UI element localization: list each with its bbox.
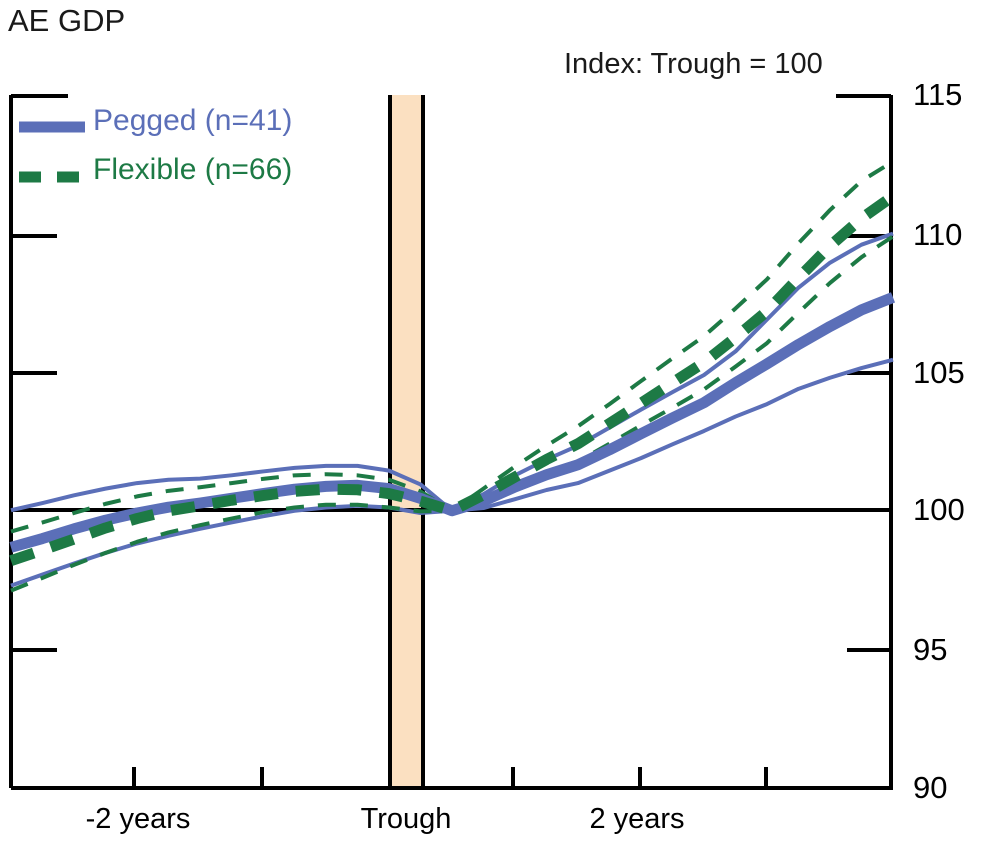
y-axis-label-110: 110	[913, 217, 962, 253]
y-axis-label-95: 95	[913, 632, 947, 668]
series-line-flexible-lower-band	[11, 236, 893, 590]
y-axis-label-105: 105	[913, 355, 965, 391]
axis-frame	[11, 95, 893, 788]
trough-band	[389, 95, 424, 788]
legend-item-flexible: Flexible (n=66)	[93, 155, 292, 185]
x-axis-label-trough: Trough	[326, 803, 486, 836]
series-line-pegged-lower-band	[11, 360, 893, 586]
y-axis-label-100: 100	[913, 492, 965, 528]
x-axis-label-2-years: 2 years	[512, 803, 762, 836]
y-axis-label-115: 115	[913, 77, 962, 113]
data-series-layer	[11, 162, 893, 591]
x-axis-label-minus-2-years: -2 years	[58, 803, 218, 836]
legend-item-pegged: Pegged (n=41)	[93, 106, 292, 136]
x-axis-ticks	[134, 767, 766, 788]
legend-swatches	[19, 127, 85, 177]
y-axis-label-90: 90	[913, 770, 947, 806]
chart-figure: AE GDP Index: Trough = 100	[0, 0, 988, 843]
y-axis-ticks	[11, 236, 891, 650]
